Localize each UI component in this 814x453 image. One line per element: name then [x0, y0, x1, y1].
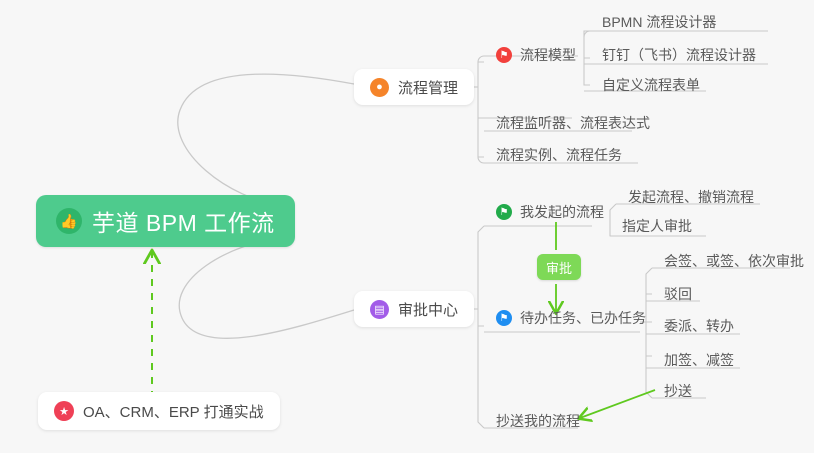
link-process-management-children	[478, 62, 484, 157]
link-todo-children	[646, 268, 652, 398]
clipboard-glyph: ▤	[374, 303, 384, 316]
node-cc[interactable]: 抄送	[658, 378, 698, 404]
node-custom-process-form-label: 自定义流程表单	[602, 75, 700, 95]
link-process-model-corner-top	[584, 31, 590, 37]
approval-badge-label: 审批	[546, 258, 572, 277]
node-delegate-transfer-label: 委派、转办	[664, 316, 734, 336]
node-process-listener-expression[interactable]: 流程监听器、流程表达式	[490, 110, 656, 136]
node-designated-approver[interactable]: 指定人审批	[616, 213, 698, 239]
node-delegate-transfer[interactable]: 委派、转办	[658, 313, 740, 339]
star-glyph: ★	[59, 405, 69, 418]
branch-approval-center-label: 审批中心	[398, 299, 458, 320]
node-start-cancel-process[interactable]: 发起流程、撤销流程	[622, 184, 760, 210]
link-root-to-approval-center	[179, 238, 354, 338]
flag-green-glyph: ⚑	[500, 207, 509, 218]
node-process-instance-task[interactable]: 流程实例、流程任务	[490, 142, 628, 168]
clipboard-icon: ▤	[370, 300, 389, 319]
node-process-model[interactable]: ⚑ 流程模型	[490, 42, 582, 68]
link-root-to-process-management	[178, 74, 354, 205]
branch-process-management-label: 流程管理	[398, 77, 458, 98]
star-icon: ★	[54, 401, 74, 421]
arrow-cc-to-cc-my-process	[580, 390, 655, 418]
lightbulb-icon: ●	[370, 78, 389, 97]
node-countersign-orsign-sequential-label: 会签、或签、依次审批	[664, 251, 804, 271]
node-cc-to-me-process[interactable]: 抄送我的流程	[490, 408, 586, 434]
branch-approval-center[interactable]: ▤ 审批中心	[354, 291, 474, 327]
node-cc-label: 抄送	[664, 381, 692, 401]
node-reject[interactable]: 驳回	[658, 281, 698, 307]
thumbs-up-icon: 👍	[56, 208, 82, 234]
flag-red-glyph: ⚑	[500, 50, 509, 61]
node-bpmn-designer[interactable]: BPMN 流程设计器	[596, 9, 722, 35]
node-custom-process-form[interactable]: 自定义流程表单	[596, 72, 706, 98]
node-add-remove-sign-label: 加签、减签	[664, 350, 734, 370]
node-start-cancel-process-label: 发起流程、撤销流程	[628, 187, 754, 207]
node-my-initiated-process-label: 我发起的流程	[520, 202, 604, 222]
node-countersign-orsign-sequential[interactable]: 会签、或签、依次审批	[658, 248, 810, 274]
link-process-model-children	[584, 31, 590, 85]
node-process-listener-expression-label: 流程监听器、流程表达式	[496, 113, 650, 133]
node-process-instance-task-label: 流程实例、流程任务	[496, 145, 622, 165]
node-bpmn-designer-label: BPMN 流程设计器	[602, 12, 716, 32]
link-process-management-corner-bottom	[478, 157, 484, 163]
link-process-management-corner-top	[478, 56, 484, 62]
flag-blue-icon: ⚑	[496, 310, 512, 326]
root-node[interactable]: 👍 芋道 BPM 工作流	[36, 195, 295, 247]
node-cc-to-me-process-label: 抄送我的流程	[496, 411, 580, 431]
link-approval-center-children	[478, 226, 484, 428]
node-reject-label: 驳回	[664, 284, 692, 304]
node-dingtalk-feishu-designer-label: 钉钉（飞书）流程设计器	[602, 45, 756, 65]
approval-badge[interactable]: 审批	[537, 254, 581, 280]
node-designated-approver-label: 指定人审批	[622, 216, 692, 236]
flag-green-icon: ⚑	[496, 204, 512, 220]
node-todo-done-tasks-label: 待办任务、已办任务	[520, 308, 646, 328]
mindmap-canvas: 👍 芋道 BPM 工作流 ● 流程管理 ⚑ 流程模型 BPMN 流程设计器 钉钉…	[0, 0, 814, 453]
integration-note-label: OA、CRM、ERP 打通实战	[83, 401, 264, 422]
flag-red-icon: ⚑	[496, 47, 512, 63]
thumbs-up-glyph: 👍	[60, 213, 77, 230]
root-node-label: 芋道 BPM 工作流	[92, 204, 275, 238]
node-my-initiated-process[interactable]: ⚑ 我发起的流程	[490, 199, 610, 225]
flag-blue-glyph: ⚑	[500, 313, 509, 324]
node-todo-done-tasks[interactable]: ⚑ 待办任务、已办任务	[490, 305, 652, 331]
integration-note[interactable]: ★ OA、CRM、ERP 打通实战	[38, 392, 280, 430]
node-dingtalk-feishu-designer[interactable]: 钉钉（飞书）流程设计器	[596, 42, 762, 68]
node-process-model-label: 流程模型	[520, 45, 576, 65]
branch-process-management[interactable]: ● 流程管理	[354, 69, 474, 105]
node-add-remove-sign[interactable]: 加签、减签	[658, 347, 740, 373]
lightbulb-glyph: ●	[376, 81, 383, 93]
